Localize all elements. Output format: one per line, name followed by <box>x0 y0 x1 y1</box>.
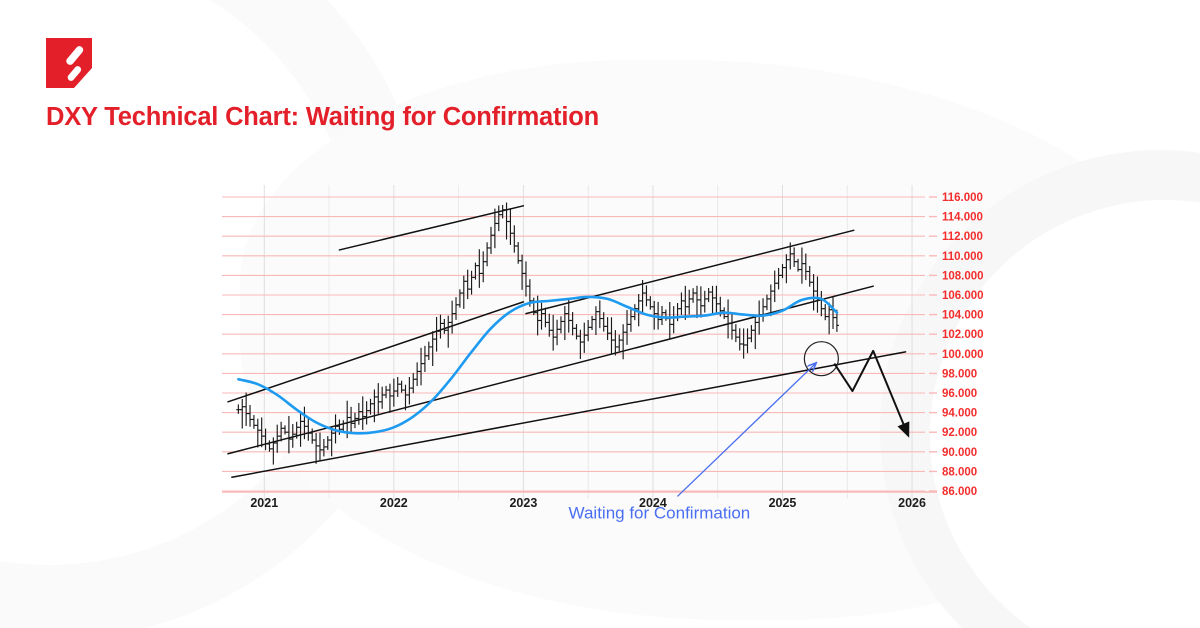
price-bar-series <box>236 203 839 465</box>
trendline-upper-channel-segment-2 <box>526 230 854 313</box>
vertical-gridlines <box>264 185 912 505</box>
confirmation-leader-line <box>677 364 815 497</box>
y-axis-label: 98.000 <box>942 368 977 380</box>
y-axis-label: 104.000 <box>942 310 984 322</box>
x-axis-label: 2024 <box>639 496 667 510</box>
y-axis-label: 114.000 <box>942 212 983 224</box>
trendline-group <box>228 206 906 477</box>
y-axis-label: 88.000 <box>942 466 977 478</box>
y-axis-label: 90.000 <box>942 447 977 459</box>
x-axis-label: 2021 <box>250 496 278 510</box>
chart-svg: Waiting for Confirmation 116.000114.0001… <box>0 0 1200 628</box>
y-axis-label: 92.000 <box>942 427 977 439</box>
trendline-upper-channel-segment-1 <box>339 206 523 250</box>
x-axis-label: 2025 <box>769 496 797 510</box>
x-axis-label: 2022 <box>380 496 408 510</box>
y-axis-label: 86.000 <box>942 486 977 498</box>
confirmation-marker-circle <box>804 342 838 376</box>
infographic-page: DXY Technical Chart: Waiting for Confirm… <box>0 0 1200 628</box>
dxy-technical-chart: Waiting for Confirmation 116.000114.0001… <box>0 0 1200 628</box>
y-axis-label: 112.000 <box>942 231 983 243</box>
y-axis-label: 100.000 <box>942 349 984 361</box>
trendline-mid-channel-segment-1 <box>228 302 523 402</box>
y-axis-label: 110.000 <box>942 251 983 263</box>
y-axis-label: 94.000 <box>942 408 977 420</box>
y-axis-label: 102.000 <box>942 329 984 341</box>
x-axis-label: 2026 <box>898 496 926 510</box>
y-axis-label: 108.000 <box>942 270 984 282</box>
trendline-lower-channel-segment <box>232 352 906 477</box>
x-axis-label: 2023 <box>509 496 537 510</box>
trendline-mid-channel-segment-2 <box>228 286 873 454</box>
y-axis-label: 96.000 <box>942 388 977 400</box>
y-axis-label: 116.000 <box>942 192 983 204</box>
y-axis-labels: 116.000114.000112.000110.000108.000106.0… <box>942 192 984 498</box>
y-axis-label: 106.000 <box>942 290 984 302</box>
